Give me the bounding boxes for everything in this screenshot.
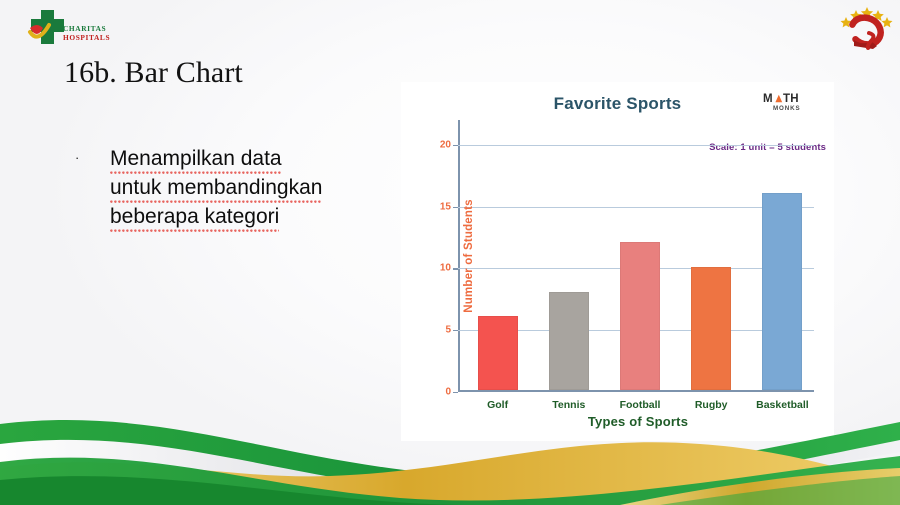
logo-line2: HOSPITALS [63,33,110,42]
logo-line1: CHARITAS [63,24,106,33]
svg-text:TH: TH [783,93,799,105]
y-tick-mark [453,392,458,393]
y-tick-label: 10 [440,263,451,274]
bullet-list-item: · Menampilkan data untuk membandingkan b… [72,144,392,231]
bullet-text-block: Menampilkan data untuk membandingkan beb… [88,144,322,231]
bar-rugby [691,267,731,391]
svg-text:M: M [763,93,773,105]
chart-plot-area: 05101520 Number of Students GolfTennisFo… [458,120,814,392]
y-tick-label: 15 [440,201,451,212]
bar-football [620,242,660,390]
q-award-logo [836,0,896,52]
y-tick-label: 0 [445,387,451,398]
y-tick-label: 5 [445,325,451,336]
bar-chart-image: Favorite Sports M TH MONKS Scale: 1 unit… [401,82,834,441]
bar-golf [478,316,518,390]
bar-tennis [549,292,589,391]
bullet-marker: · [72,144,88,231]
green-gold-ribbon-decoration [0,410,900,505]
bullet-line-1: Menampilkan data [110,147,282,174]
triangle-icon [775,95,782,102]
math-monks-watermark: M TH MONKS [762,90,820,114]
y-tick-label: 20 [440,139,451,150]
charitas-hospitals-logo: CHARITAS HOSPITALS [8,4,128,52]
watermark-sub: MONKS [773,105,801,112]
bullet-line-2: untuk membandingkan [110,176,322,203]
bar-series [458,120,814,392]
page-title: 16b. Bar Chart [64,56,243,90]
bar-basketball [762,193,802,391]
slide-canvas: CHARITAS HOSPITALS 16b. Bar Chart · Mena… [0,0,900,505]
bullet-line-3: beberapa kategori [110,205,279,232]
